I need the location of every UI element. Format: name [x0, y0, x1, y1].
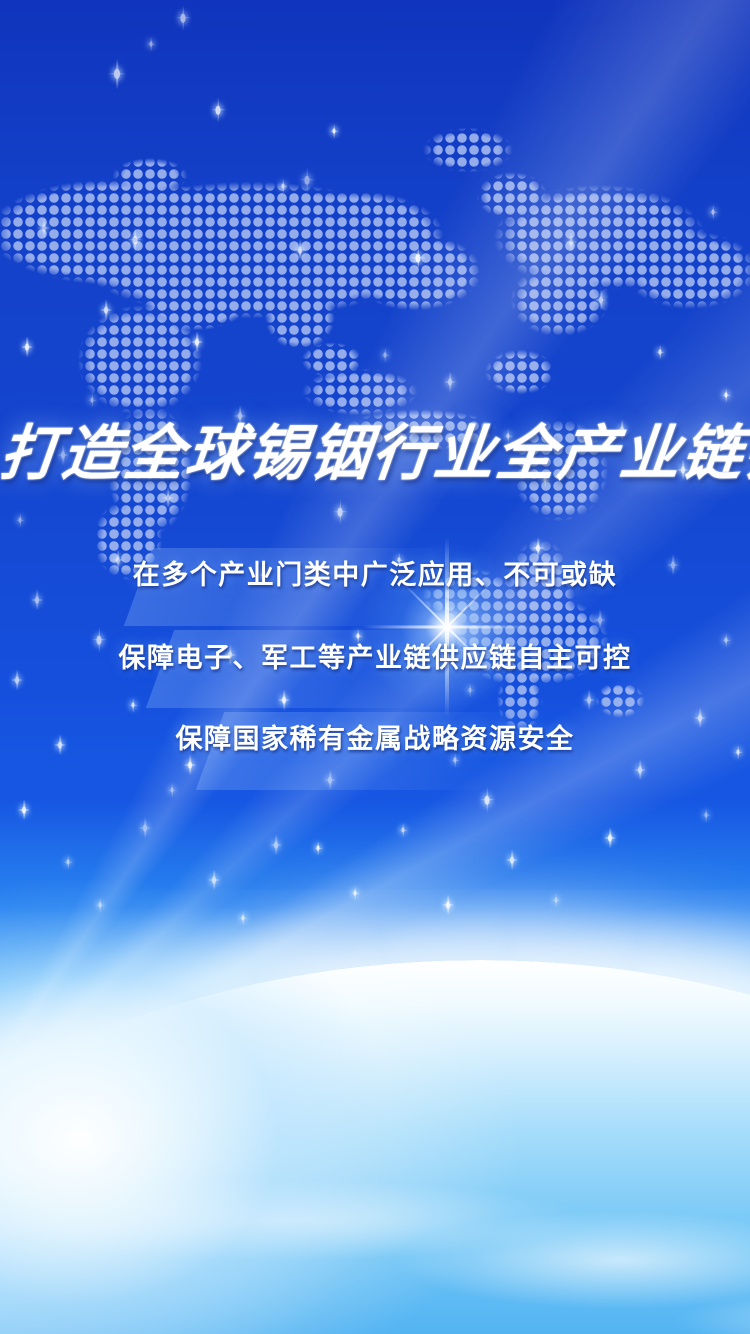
- subtitle-line-1: 在多个产业门类中广泛应用、不可或缺: [0, 562, 750, 589]
- page-title: 打造全球锡铟行业全产业链链主: [0, 424, 750, 484]
- subtitle-line-2: 保障电子、军工等产业链供应链自主可控: [0, 645, 750, 672]
- subtitle-line-3: 保障国家稀有金属战略资源安全: [0, 726, 750, 753]
- poster-canvas: 打造全球锡铟行业全产业链链主 在多个产业门类中广泛应用、不可或缺 保障电子、军工…: [0, 0, 750, 1334]
- poster-content: 打造全球锡铟行业全产业链链主 在多个产业门类中广泛应用、不可或缺 保障电子、军工…: [0, 0, 750, 1334]
